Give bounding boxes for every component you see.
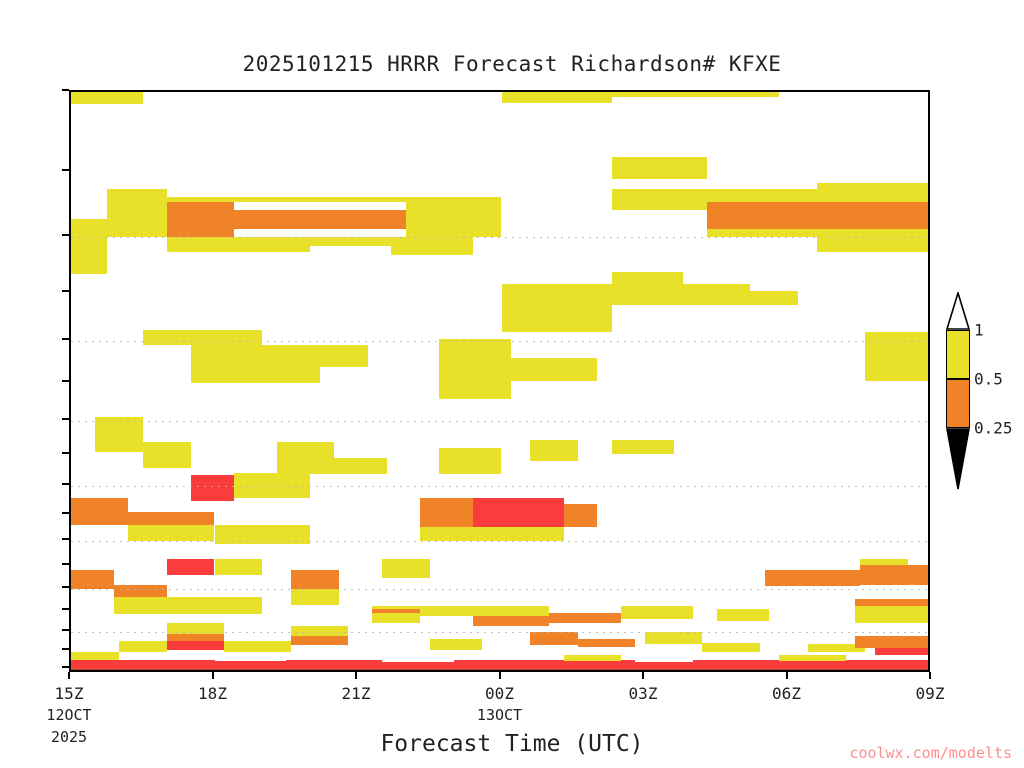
y-axis-tick-mark (62, 169, 69, 171)
colorbar: 10.50.25 (946, 292, 970, 478)
chart-title: 2025101215 HRRR Forecast Richardson# KFX… (0, 52, 1024, 76)
x-axis-tick-label: 06Z (772, 684, 801, 703)
y-axis-tick-mark (62, 512, 69, 514)
y-axis-tick-mark (62, 234, 69, 236)
plot-area (69, 90, 930, 672)
x-axis-tick-mark (642, 672, 644, 679)
x-axis-date-label: 12OCT (46, 706, 91, 724)
x-axis-tick-label: 03Z (629, 684, 658, 703)
terrain-band (71, 92, 928, 670)
x-axis-tick-label: 18Z (198, 684, 227, 703)
x-axis-tick-label: 09Z (916, 684, 945, 703)
colorbar-label: 0.25 (974, 419, 1013, 438)
y-axis-tick-mark (62, 608, 69, 610)
y-axis-tick-mark (62, 483, 69, 485)
x-axis-tick-label: 15Z (55, 684, 84, 703)
x-axis-tick-mark (355, 672, 357, 679)
y-axis-tick-mark (62, 538, 69, 540)
y-axis-tick-mark (62, 89, 69, 91)
y-axis-tick-mark (62, 418, 69, 420)
y-axis-tick-mark (62, 380, 69, 382)
y-axis-tick-mark (62, 452, 69, 454)
chart-root: 2025101215 HRRR Forecast Richardson# KFX… (0, 0, 1024, 768)
colorbar-label: 1 (974, 321, 984, 340)
x-axis-tick-mark (68, 672, 70, 679)
colorbar-segment-orange (946, 379, 970, 428)
y-axis-tick-mark (62, 290, 69, 292)
y-axis-tick-mark (62, 629, 69, 631)
y-axis-tick-mark (62, 563, 69, 565)
y-axis-tick-mark (62, 338, 69, 340)
x-axis-tick-mark (786, 672, 788, 679)
colorbar-top-arrow (946, 292, 970, 330)
x-axis-tick-label: 00Z (485, 684, 514, 703)
colorbar-bottom-arrow (946, 428, 970, 490)
x-axis-tick-mark (929, 672, 931, 679)
y-axis-tick-mark (62, 666, 69, 668)
y-axis-tick-mark (62, 586, 69, 588)
colorbar-segment-yellow (946, 330, 970, 379)
x-axis-tick-label: 21Z (342, 684, 371, 703)
x-axis-tick-mark (499, 672, 501, 679)
colorbar-label: 0.5 (974, 370, 1003, 389)
y-axis-tick-mark (62, 648, 69, 650)
watermark: coolwx.com/modelts (849, 744, 1012, 762)
x-axis-date-label: 13OCT (477, 706, 522, 724)
x-axis-tick-mark (212, 672, 214, 679)
